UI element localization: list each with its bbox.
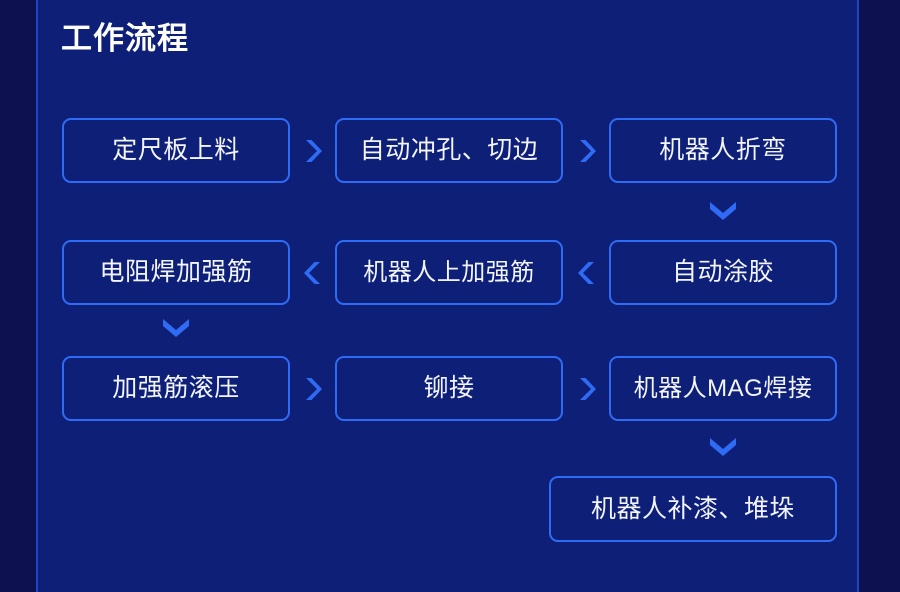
flow-node-2-1[interactable]: 电阻焊加强筋 (62, 240, 290, 305)
chevron-left-icon (296, 256, 330, 290)
chevron-right-icon (570, 372, 604, 406)
chevron-down-icon (159, 313, 193, 341)
workflow-diagram: 工作流程 定尺板上料 自动冲孔、切边 机器人折弯 电阻焊加强筋 机器人上加强筋 … (0, 0, 900, 592)
flow-node-3-1[interactable]: 加强筋滚压 (62, 356, 290, 421)
flow-node-1-3[interactable]: 机器人折弯 (609, 118, 837, 183)
flow-node-1-1[interactable]: 定尺板上料 (62, 118, 290, 183)
chevron-right-icon (570, 134, 604, 168)
chevron-down-icon (706, 432, 740, 460)
panel-left-divider (36, 0, 38, 592)
chevron-right-icon (296, 134, 330, 168)
flow-node-3-3[interactable]: 机器人MAG焊接 (609, 356, 837, 421)
chevron-down-icon (706, 196, 740, 224)
flow-node-1-2[interactable]: 自动冲孔、切边 (335, 118, 563, 183)
panel-right-divider (857, 0, 859, 592)
flow-node-3-2[interactable]: 铆接 (335, 356, 563, 421)
page-title: 工作流程 (61, 20, 189, 57)
flow-node-2-2[interactable]: 机器人上加强筋 (335, 240, 563, 305)
chevron-left-icon (570, 256, 604, 290)
flow-node-2-3[interactable]: 自动涂胶 (609, 240, 837, 305)
flow-node-4-1[interactable]: 机器人补漆、堆垛 (549, 476, 837, 542)
chevron-right-icon (296, 372, 330, 406)
